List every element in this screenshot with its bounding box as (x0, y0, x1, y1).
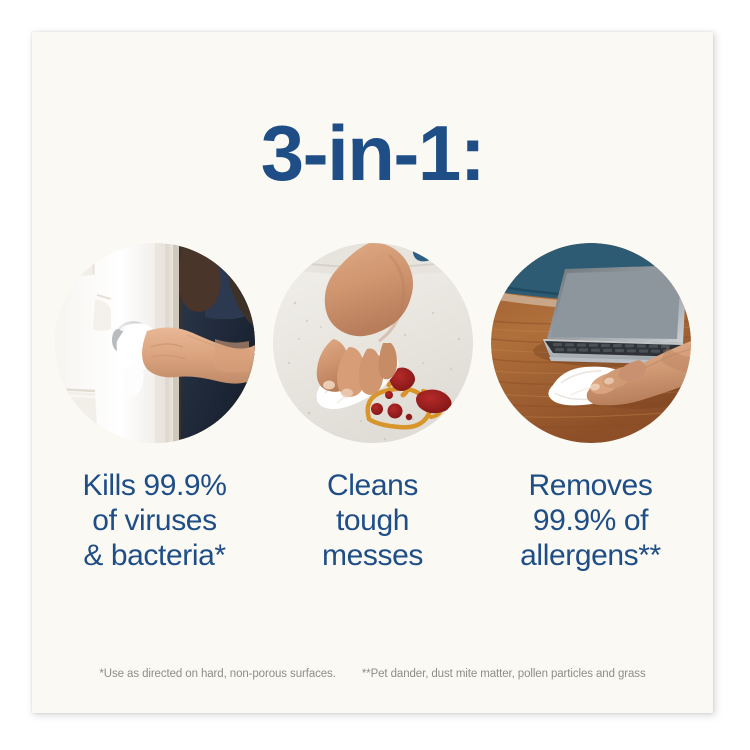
benefit-item-cleans-tough-messes: Cleans tough messes (266, 243, 480, 573)
benefit-caption: Removes 99.9% of allergens** (520, 469, 661, 573)
footnote-single-asterisk: *Use as directed on hard, non-porous sur… (99, 668, 335, 680)
info-card: 3-in-1: (32, 32, 713, 713)
footnotes: *Use as directed on hard, non-porous sur… (32, 668, 713, 680)
hand-wiping-doorknob-photo (55, 243, 255, 443)
hand-wiping-countertop-spill-photo (273, 243, 473, 443)
product-benefit-infographic: 3-in-1: (0, 0, 750, 750)
benefit-caption: Kills 99.9% of viruses & bacteria* (82, 469, 226, 573)
benefit-item-kills-viruses-bacteria: Kills 99.9% of viruses & bacteria* (48, 243, 262, 573)
page-title: 3-in-1: (32, 114, 713, 192)
benefit-item-removes-allergens: Removes 99.9% of allergens** (484, 243, 698, 573)
footnote-double-asterisk: **Pet dander, dust mite matter, pollen p… (362, 668, 646, 680)
benefits-row: Kills 99.9% of viruses & bacteria* (32, 243, 713, 573)
hand-wiping-desk-laptop-photo (491, 243, 691, 443)
benefit-caption: Cleans tough messes (322, 469, 423, 573)
